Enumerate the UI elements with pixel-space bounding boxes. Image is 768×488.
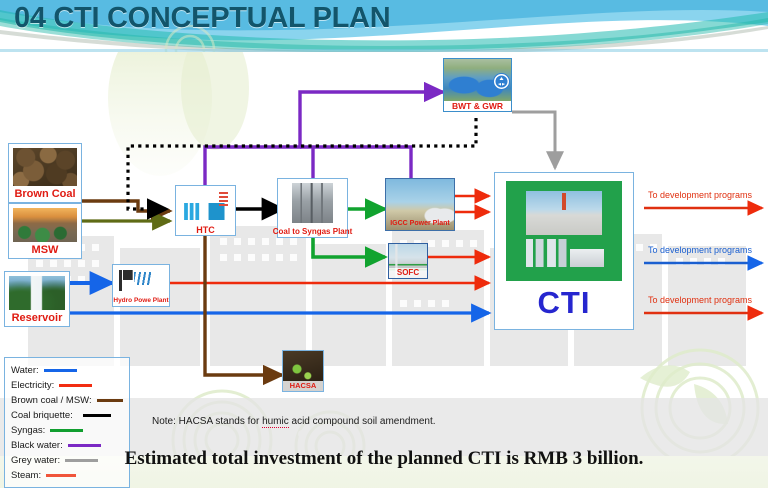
node-reservoir[interactable]: Reservoir <box>4 271 70 327</box>
legend-label-syngas: Syngas: <box>11 425 45 436</box>
node-htc-label: HTC <box>195 225 216 235</box>
legend-swatch-brown-coal-msw <box>97 399 123 402</box>
cti-label: CTI <box>538 285 591 321</box>
legend-swatch-electricity <box>59 384 92 387</box>
node-igcc-power-plant[interactable]: IGCC Power Plant <box>385 178 455 231</box>
legend-label-electricity: Electricity: <box>11 380 54 391</box>
legend-swatch-black-water <box>68 444 101 447</box>
node-brown-coal-label: Brown Coal <box>9 188 81 200</box>
title-banner: 04 CTI CONCEPTUAL PLAN <box>0 0 768 52</box>
node-reservoir-label: Reservoir <box>5 312 69 324</box>
node-hacsa[interactable]: HACSA <box>282 350 324 392</box>
node-htc[interactable]: HTC <box>175 185 236 236</box>
node-coal-to-syngas[interactable]: Coal to Syngas Plant <box>277 178 348 238</box>
node-hacsa-label: HACSA <box>283 381 323 391</box>
legend-swatch-steam <box>46 474 76 477</box>
legend-swatch-coal-briquette <box>83 414 111 417</box>
note-prefix: Note: HACSA stands for <box>152 416 262 427</box>
legend-item-brown-coal-msw: Brown coal / MSW: <box>11 393 125 408</box>
water-treatment-photo <box>444 59 511 101</box>
node-sofc-label: SOFC <box>389 268 427 278</box>
legend-item-steam: Steam: <box>11 468 125 483</box>
legend-label-brown-coal-msw: Brown coal / MSW: <box>11 395 92 406</box>
footer-statement: Estimated total investment of the planne… <box>0 448 768 470</box>
node-cti-hub[interactable]: CTI <box>494 172 634 330</box>
reservoir-dam-photo <box>9 276 65 310</box>
node-brown-coal[interactable]: Brown Coal <box>8 143 82 203</box>
node-sofc[interactable]: SOFC <box>388 243 428 279</box>
recycle-badge-icon <box>493 73 510 90</box>
hydrothermal-carbonization-plant-icon <box>176 186 235 225</box>
legend-label-water: Water: <box>11 365 39 376</box>
note-suffix: acid compound soil amendment. <box>289 416 436 427</box>
gasifier-tower-photo <box>278 179 347 227</box>
node-coal-to-syngas-label: Coal to Syngas Plant <box>272 227 354 237</box>
coal-pile-photo <box>13 148 77 186</box>
output-label-3: To development programs <box>648 295 752 305</box>
legend-swatch-syngas <box>50 429 83 432</box>
node-igcc-label: IGCC Power Plant <box>386 219 454 229</box>
legend-label-steam: Steam: <box>11 470 41 481</box>
legend-item-syngas: Syngas: <box>11 423 125 438</box>
legend-swatch-water <box>44 369 77 372</box>
municipal-solid-waste-photo <box>13 208 77 242</box>
output-label-2: To development programs <box>648 245 752 255</box>
note-underlined-word: humic <box>262 416 289 428</box>
legend-item-water: Water: <box>11 363 125 378</box>
slide-canvas: 04 CTI CONCEPTUAL PLAN <box>0 0 768 488</box>
legend-item-electricity: Electricity: <box>11 378 125 393</box>
page-title: 04 CTI CONCEPTUAL PLAN <box>14 2 390 35</box>
node-hydro-power-plant[interactable]: Hydro Powe Plant <box>112 264 170 307</box>
legend-label-coal-briquette: Coal briquette: <box>11 410 73 421</box>
node-bwt-gwr-label: BWT & GWR <box>451 101 504 111</box>
cti-green-panel <box>506 181 622 281</box>
node-bwt-gwr[interactable]: BWT & GWR <box>443 58 512 112</box>
node-msw[interactable]: MSW <box>8 203 82 259</box>
node-msw-label: MSW <box>9 244 81 256</box>
hydro-power-plant-icon <box>113 265 169 296</box>
legend-item-coal-briquette: Coal briquette: <box>11 408 125 423</box>
industrial-complex-photo <box>522 191 606 271</box>
node-hydro-label: Hydro Powe Plant <box>112 296 169 306</box>
note-text: Note: HACSA stands for humic acid compou… <box>152 416 436 427</box>
output-label-1: To development programs <box>648 190 752 200</box>
